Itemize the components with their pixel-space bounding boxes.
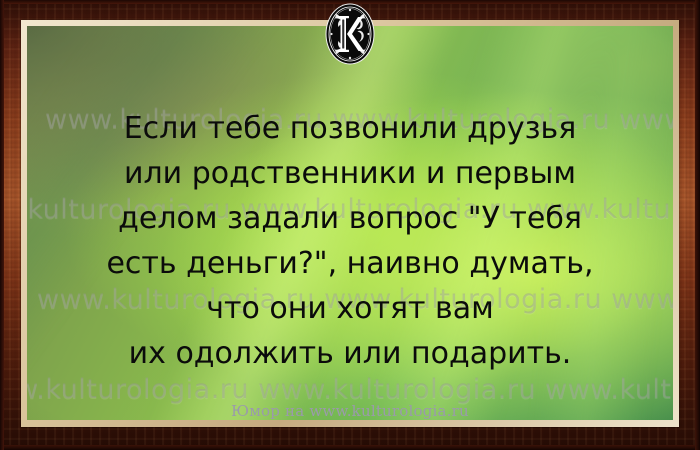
quote-text: Если тебе позвонили друзьяили родственни… <box>27 106 673 376</box>
quote-line-6: их одолжить или подарить. <box>27 331 673 376</box>
quote-line-5: что они хотят вам <box>27 286 673 331</box>
frame-edge-left <box>0 0 4 450</box>
quote-line-3: делом задали вопрос "У тебя <box>27 196 673 241</box>
frame-edge-right <box>695 0 700 450</box>
demotivator-card: www.kulturologia.ru www.kulturologia.ru … <box>0 0 700 450</box>
kulturologia-logo-icon <box>325 3 375 65</box>
credit-line: Юмор на www.kulturologia.ru <box>27 402 673 420</box>
quote-line-4: есть деньги?", наивно думать, <box>27 241 673 286</box>
quote-line-2: или родственники и первым <box>27 151 673 196</box>
frame-edge-bottom <box>0 445 700 450</box>
quote-line-1: Если тебе позвонили друзья <box>27 106 673 151</box>
